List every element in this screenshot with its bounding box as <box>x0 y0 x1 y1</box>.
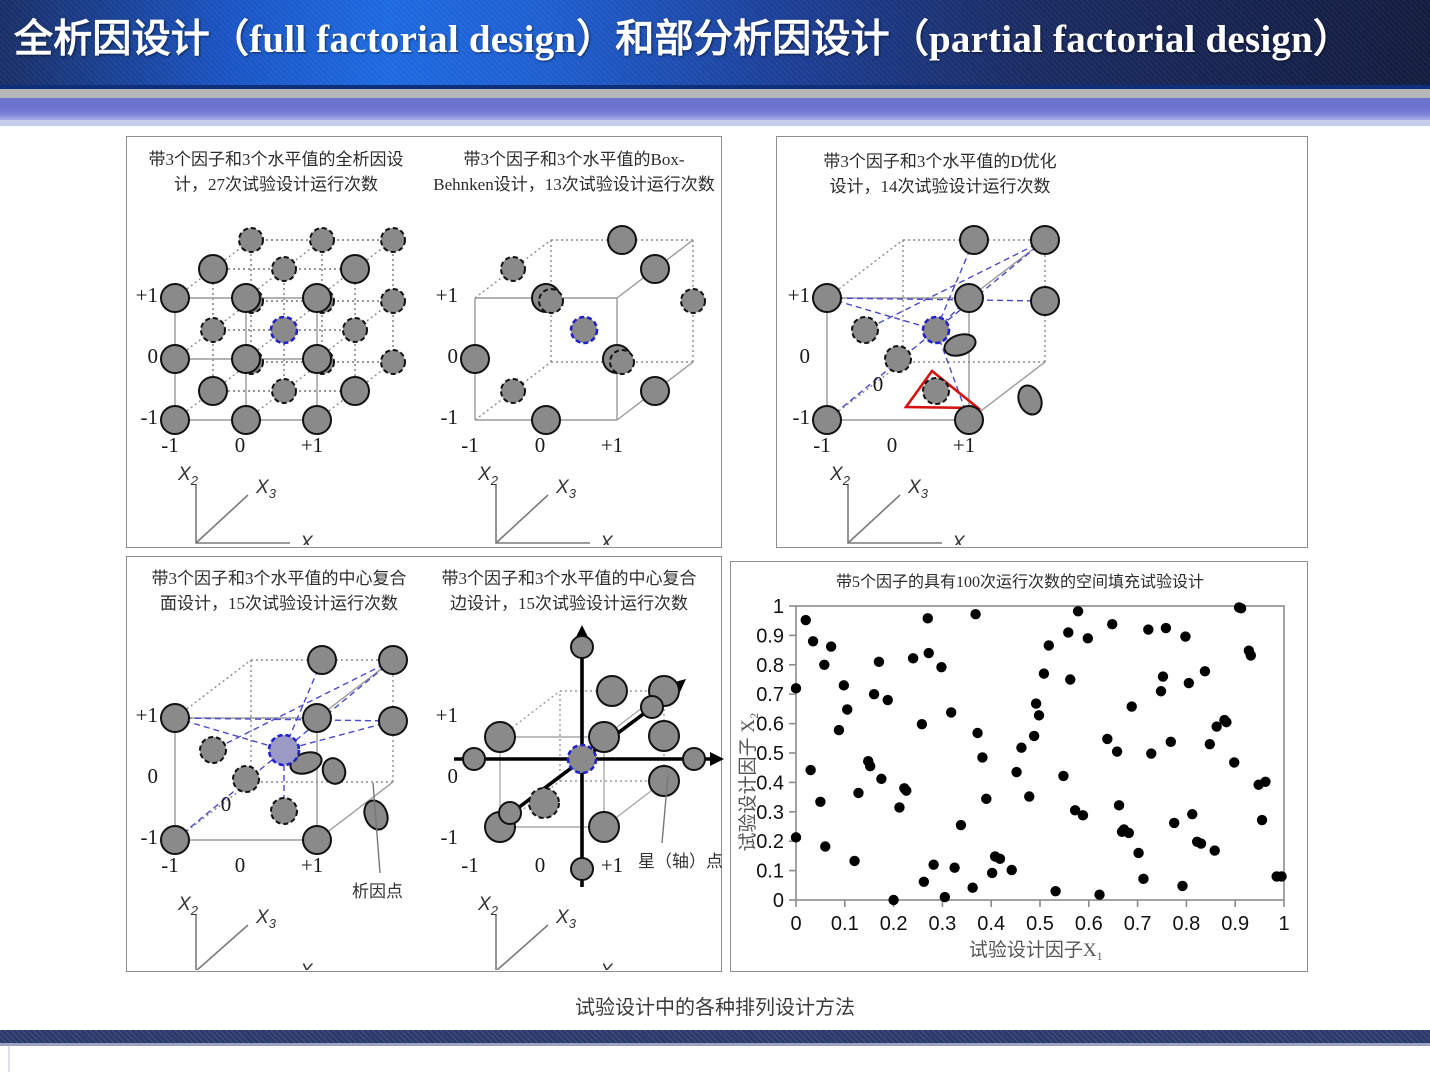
bb-axis-x2-label: X2 <box>477 464 499 488</box>
design-point <box>303 284 331 312</box>
scatter-ytick: 0.3 <box>756 802 784 824</box>
scatter-point <box>936 662 946 672</box>
scatter-ytick: 0.1 <box>756 861 784 883</box>
scatter-y-axis-label: 试验设计因子 X₂ <box>737 712 759 851</box>
scatter-point <box>1246 650 1256 660</box>
design-point <box>1014 382 1046 418</box>
design-point <box>303 345 331 373</box>
ce-xtick-plus1: +1 <box>601 853 623 877</box>
caption-d-optimal-line1: 带3个因子和3个水平值的D优化 <box>790 149 1090 174</box>
scatter-point <box>874 657 884 667</box>
scatter-point <box>1210 845 1220 855</box>
design-point <box>341 255 369 283</box>
design-point <box>319 755 349 787</box>
cf-xtick-minus1: -1 <box>161 853 179 877</box>
ce-xtick-minus1: -1 <box>461 853 479 877</box>
cce-axis-x3-label: X3 <box>555 907 577 931</box>
scatter-point <box>995 854 1005 864</box>
factorial-point <box>485 722 515 752</box>
factorial-point <box>379 707 407 735</box>
center-point <box>269 735 299 765</box>
scatter-point <box>977 752 987 762</box>
ff-axis-x2-label: X2 <box>177 464 199 488</box>
do-ytick-minus1: -1 <box>793 405 811 429</box>
design-point <box>529 788 559 818</box>
factorial-point <box>161 704 189 732</box>
caption-ccf-line2: 面设计，15次试验设计运行次数 <box>134 591 424 616</box>
factorial-point <box>308 646 336 674</box>
design-point <box>341 377 369 405</box>
footer-area <box>0 1046 1430 1072</box>
scatter-point <box>1114 800 1124 810</box>
ccf-axis-x2-label: X2 <box>177 894 199 918</box>
scatter-point <box>1138 874 1148 884</box>
design-point <box>923 378 949 404</box>
scatter-ytick: 0.7 <box>756 684 784 706</box>
design-point <box>461 345 489 373</box>
bb-ytick-plus1: +1 <box>436 283 458 307</box>
star-point <box>571 636 593 658</box>
design-point <box>641 377 669 405</box>
scatter-point <box>981 794 991 804</box>
design-point <box>813 406 841 434</box>
star-point <box>463 748 485 770</box>
design-point <box>955 406 983 434</box>
scatter-point <box>987 868 997 878</box>
cce-axis-x1-label: X1 <box>599 961 620 970</box>
scatter-point <box>869 689 879 699</box>
scatter-point <box>949 862 959 872</box>
design-point <box>539 289 563 313</box>
do-xtick-zero: 0 <box>887 433 898 457</box>
scatter-point <box>940 892 950 902</box>
design-point <box>608 226 636 254</box>
do-inner-zero: 0 <box>873 372 884 396</box>
scatter-point <box>1112 746 1122 756</box>
scatter-point <box>1029 731 1039 741</box>
scatter-xtick: 1 <box>1278 913 1289 935</box>
header-rule-periwinkle <box>0 98 1430 120</box>
scatter-point <box>805 765 815 775</box>
cf-ytick-zero: 0 <box>148 764 159 788</box>
scatter-point <box>849 856 859 866</box>
scatter-point <box>1221 717 1231 727</box>
caption-box-behnken-line1: 带3个因子和3个水平值的Box- <box>424 147 724 172</box>
design-point <box>681 289 705 313</box>
star-point <box>499 802 521 824</box>
caption-box-behnken: 带3个因子和3个水平值的Box- Behnken设计，13次试验设计运行次数 <box>424 147 724 197</box>
figure-full-factorial: +1 0 -1 -1 0 +1 X2 X3 X1 <box>130 195 430 550</box>
factorial-point <box>649 766 679 796</box>
star-point <box>641 696 663 718</box>
design-point <box>641 255 669 283</box>
scatter-point <box>1196 838 1206 848</box>
scatter-point <box>1169 818 1179 828</box>
caption-ccf: 带3个因子和3个水平值的中心复合 面设计，15次试验设计运行次数 <box>134 566 424 616</box>
design-point <box>501 257 525 281</box>
design-point <box>232 406 260 434</box>
cf-ytick-plus1: +1 <box>136 703 158 727</box>
scatter-point <box>1184 678 1194 688</box>
factorial-point <box>589 812 619 842</box>
scatter-point <box>1166 737 1176 747</box>
ff-xtick-zero: 0 <box>235 433 246 457</box>
hidden-design-point <box>381 350 405 374</box>
caption-ccf-line1: 带3个因子和3个水平值的中心复合 <box>134 566 424 591</box>
scatter-point <box>1083 633 1093 643</box>
ccf-axis-x3-label: X3 <box>255 907 277 931</box>
factorial-point <box>649 721 679 751</box>
scatter-point <box>842 704 852 714</box>
bb-ytick-zero: 0 <box>448 344 459 368</box>
scatter-point <box>901 785 911 795</box>
ff-ytick-minus1: -1 <box>141 405 159 429</box>
scatter-point <box>1127 701 1137 711</box>
scatter-xtick: 0.7 <box>1124 913 1152 935</box>
scatter-x-axis-label: 试验设计因子X₁ <box>969 939 1103 961</box>
center-point <box>568 745 596 773</box>
ff-axis-x1-label: X1 <box>299 533 320 545</box>
scatter-point <box>970 609 980 619</box>
scatter-point <box>888 895 898 905</box>
scatter-point <box>1161 623 1171 633</box>
scatter-point <box>1133 848 1143 858</box>
scatter-point <box>791 683 801 693</box>
scatter-point <box>928 860 938 870</box>
scatter-point <box>1034 710 1044 720</box>
design-point <box>232 345 260 373</box>
scatter-xtick: 0.8 <box>1172 913 1200 935</box>
hidden-design-point <box>381 289 405 313</box>
scatter-point <box>819 660 829 670</box>
header-rule-gray <box>0 89 1430 98</box>
scatter-point <box>1065 674 1075 684</box>
scatter-point <box>1205 739 1215 749</box>
ce-xtick-zero: 0 <box>535 853 546 877</box>
scatter-point <box>876 774 886 784</box>
scatter-ytick: 0.2 <box>756 831 784 853</box>
scatter-point <box>839 680 849 690</box>
scatter-point <box>1006 865 1016 875</box>
bb-xtick-zero: 0 <box>535 433 546 457</box>
scatter-point <box>815 797 825 807</box>
do-xtick-minus1: -1 <box>813 433 831 457</box>
star-point <box>683 748 705 770</box>
scatter-point <box>1260 777 1270 787</box>
scatter-point <box>834 725 844 735</box>
cce-annotation-star-points: 星（轴）点 <box>638 852 723 871</box>
factorial-point <box>589 722 619 752</box>
scatter-point <box>1016 743 1026 753</box>
design-point <box>199 377 227 405</box>
scatter-point <box>865 761 875 771</box>
design-point <box>610 350 634 374</box>
caption-d-optimal: 带3个因子和3个水平值的D优化 设计，14次试验设计运行次数 <box>790 149 1090 199</box>
bottom-caption: 试验设计中的各种排列设计方法 <box>0 991 1430 1020</box>
figure-box-behnken: +1 0 -1 -1 0 +1 X2 X3 X1 <box>430 195 730 550</box>
scatter-point <box>826 641 836 651</box>
hidden-design-point <box>272 257 296 281</box>
scatter-xtick: 0.3 <box>928 913 956 935</box>
do-axis-x2-label: X2 <box>829 464 851 488</box>
scatter-point <box>801 615 811 625</box>
center-point <box>571 317 597 343</box>
scatter-point <box>1124 828 1134 838</box>
design-point <box>199 255 227 283</box>
design-point <box>955 284 983 312</box>
scatter-point <box>1156 686 1166 696</box>
axial-point <box>200 737 226 763</box>
figure-space-filling-scatter: 00.10.20.30.40.50.60.70.80.9100.10.20.30… <box>736 592 1302 967</box>
design-point <box>885 346 911 372</box>
scatter-point <box>1073 606 1083 616</box>
scatter-xtick: 0.6 <box>1075 913 1103 935</box>
cce-axis-x2-label: X2 <box>477 894 499 918</box>
scatter-ytick: 0.8 <box>756 655 784 677</box>
scatter-point <box>791 832 801 842</box>
design-point <box>532 406 560 434</box>
ccf-axis-x1-label: X1 <box>299 961 320 970</box>
ce-ytick-minus1: -1 <box>441 825 459 849</box>
axial-point <box>271 798 297 824</box>
bb-xtick-minus1: -1 <box>461 433 479 457</box>
design-point <box>852 317 878 343</box>
scatter-xtick: 0.9 <box>1221 913 1249 935</box>
ff-xtick-plus1: +1 <box>301 433 323 457</box>
hidden-design-point <box>201 318 225 342</box>
scatter-point <box>1044 640 1054 650</box>
scatter-point <box>917 719 927 729</box>
design-point <box>232 284 260 312</box>
scatter-point <box>1094 890 1104 900</box>
scatter-point <box>1058 771 1068 781</box>
cf-ytick-minus1: -1 <box>141 825 159 849</box>
figure-central-composite-edge: +1 0 -1 -1 0 +1 星（轴）点 X2 X3 X1 <box>430 615 730 975</box>
page-title: 全析因设计（full factorial design）和部分析因设计（part… <box>14 13 1430 67</box>
design-point <box>960 226 988 254</box>
caption-cce-line2: 边设计，15次试验设计运行次数 <box>424 591 714 616</box>
design-point <box>501 379 525 403</box>
scatter-point <box>1050 886 1060 896</box>
scatter-ytick: 1 <box>773 596 784 618</box>
center-point <box>923 317 949 343</box>
scatter-point <box>1031 698 1041 708</box>
scatter-xtick: 0.2 <box>880 913 908 935</box>
do-ytick-zero: 0 <box>800 344 811 368</box>
scatter-point <box>1180 631 1190 641</box>
hidden-design-point <box>272 379 296 403</box>
scatter-ytick: 0.5 <box>756 743 784 765</box>
scatter-point <box>853 788 863 798</box>
scatter-point <box>972 728 982 738</box>
hidden-design-point <box>310 228 334 252</box>
do-axis-x1-label: X1 <box>951 533 972 545</box>
ce-ytick-plus1: +1 <box>436 703 458 727</box>
bb-ytick-minus1: -1 <box>441 405 459 429</box>
scatter-xtick: 0.1 <box>831 913 859 935</box>
ce-ytick-zero: 0 <box>448 764 459 788</box>
design-point <box>161 406 189 434</box>
star-point <box>571 858 593 880</box>
caption-cce-line1: 带3个因子和3个水平值的中心复合 <box>424 566 714 591</box>
ff-ytick-plus1: +1 <box>136 283 158 307</box>
title-banner: 全析因设计（full factorial design）和部分析因设计（part… <box>0 0 1430 85</box>
scatter-point <box>1229 757 1239 767</box>
cf-inner-zero: 0 <box>221 792 232 816</box>
center-point <box>271 317 297 343</box>
scatter-point <box>808 636 818 646</box>
scatter-point <box>1143 624 1153 634</box>
caption-cce: 带3个因子和3个水平值的中心复合 边设计，15次试验设计运行次数 <box>424 566 714 616</box>
scatter-point <box>956 820 966 830</box>
scatter-xtick: 0.5 <box>1026 913 1054 935</box>
scatter-point <box>820 841 830 851</box>
ff-xtick-minus1: -1 <box>161 433 179 457</box>
caption-full-factorial-line2: 计，27次试验设计运行次数 <box>134 172 418 197</box>
axial-point <box>233 766 259 792</box>
scatter-ytick: 0.9 <box>756 625 784 647</box>
ccf-annotation-factorial-points: 析因点 <box>352 882 403 901</box>
figure-d-optimal: +1 0 -1 0 -1 0 +1 X2 X3 X1 <box>782 195 1092 550</box>
factorial-point <box>597 676 627 706</box>
scatter-point <box>1146 748 1156 758</box>
design-point <box>161 345 189 373</box>
scatter-point <box>967 882 977 892</box>
design-point <box>303 406 331 434</box>
do-axis-x3-label: X3 <box>907 477 929 501</box>
scatter-point <box>1078 810 1088 820</box>
scatter-point <box>946 707 956 717</box>
scatter-point <box>1024 791 1034 801</box>
ff-ytick-zero: 0 <box>148 344 159 368</box>
footer-rule-dark <box>0 1030 1430 1043</box>
do-xtick-plus1: +1 <box>953 433 975 457</box>
scatter-point <box>919 877 929 887</box>
design-point <box>813 284 841 312</box>
factorial-point <box>303 704 331 732</box>
scatter-point <box>1011 767 1021 777</box>
design-point <box>1031 287 1059 315</box>
scatter-point <box>908 653 918 663</box>
scatter-point <box>1177 881 1187 891</box>
scatter-point <box>1158 671 1168 681</box>
ff-axis-x3-label: X3 <box>255 477 277 501</box>
bb-axis-x1-label: X1 <box>599 533 620 545</box>
scatter-point <box>1257 815 1267 825</box>
cf-xtick-plus1: +1 <box>301 853 323 877</box>
hidden-design-point <box>343 318 367 342</box>
caption-box-behnken-line2: Behnken设计，13次试验设计运行次数 <box>424 172 724 197</box>
header-rule-light <box>0 120 1430 126</box>
scatter-point <box>1063 627 1073 637</box>
hidden-design-point <box>381 228 405 252</box>
scatter-point <box>924 648 934 658</box>
factorial-point <box>303 826 331 854</box>
scatter-point <box>894 802 904 812</box>
scatter-point <box>923 613 933 623</box>
factorial-point <box>379 646 407 674</box>
caption-full-factorial-line1: 带3个因子和3个水平值的全析因设 <box>134 147 418 172</box>
scatter-ytick: 0.6 <box>756 714 784 736</box>
scatter-xtick: 0 <box>790 913 801 935</box>
cf-xtick-zero: 0 <box>235 853 246 877</box>
figure-central-composite-face: +1 0 -1 0 -1 0 +1 析因点 X2 X3 X1 <box>130 615 440 975</box>
design-point <box>1031 226 1059 254</box>
do-ytick-plus1: +1 <box>788 283 810 307</box>
factorial-point <box>161 826 189 854</box>
scatter-point <box>1039 668 1049 678</box>
scatter-point <box>1276 871 1286 881</box>
bb-axis-x3-label: X3 <box>555 477 577 501</box>
scatter-xtick: 0.4 <box>977 913 1005 935</box>
scatter-point <box>1107 619 1117 629</box>
scatter-point <box>1102 734 1112 744</box>
scatter-point <box>883 695 893 705</box>
hidden-design-point <box>239 228 263 252</box>
scatter-point <box>1187 809 1197 819</box>
bb-xtick-plus1: +1 <box>601 433 623 457</box>
scatter-point <box>1236 603 1246 613</box>
caption-full-factorial: 带3个因子和3个水平值的全析因设 计，27次试验设计运行次数 <box>134 147 418 197</box>
scatter-ytick: 0 <box>773 890 784 912</box>
footer-left-marker <box>8 1046 10 1072</box>
design-point <box>161 284 189 312</box>
scatter-point <box>1200 666 1210 676</box>
scatter-ytick: 0.4 <box>756 772 784 794</box>
